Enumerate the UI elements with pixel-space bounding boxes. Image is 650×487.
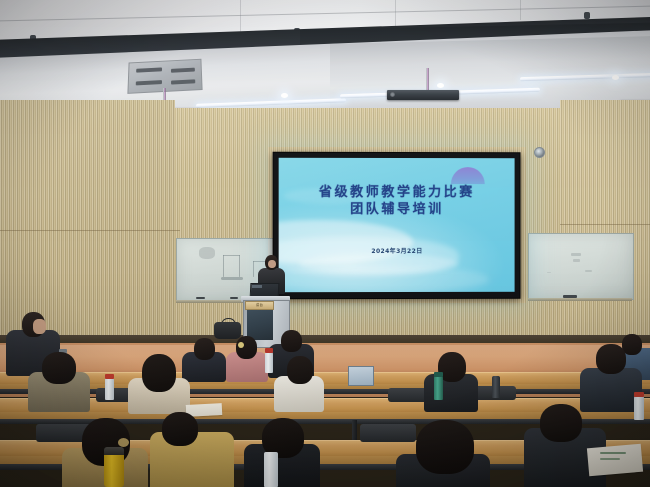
podium-plaque: 讲台: [245, 301, 274, 310]
ceiling-speaker-icon: [584, 12, 590, 19]
bottle-cap: [434, 372, 443, 377]
whiteboard-right: [528, 233, 634, 300]
ceiling-downlight-icon: [281, 93, 288, 98]
bag-icon: [214, 322, 241, 339]
ac-grille-slat: [171, 68, 195, 73]
handout-mark: [600, 452, 626, 454]
wall-sensor-icon: [534, 147, 545, 158]
whiteboard-marker-icon: [563, 295, 577, 298]
slide-wave-decoration: [279, 266, 489, 292]
bottle-cap: [265, 348, 273, 353]
whiteboard-sketch-mark: [571, 253, 581, 256]
water-bottle-icon: [492, 376, 500, 398]
attendee-head: [281, 330, 302, 352]
handout-right: [587, 444, 643, 477]
bottle-cap: [105, 374, 114, 379]
slide-title-block: 省级教师教学能力比赛 团队辅导培训: [279, 184, 515, 218]
water-bottle-icon: [634, 396, 644, 420]
attendee-head: [162, 412, 198, 446]
whiteboard-sketch-mark: [585, 270, 592, 272]
stage-floor-reflection: [0, 345, 650, 371]
attendee-head: [540, 404, 582, 442]
slide-title-line-1: 省级教师教学能力比赛: [279, 184, 515, 201]
attendee-head: [596, 344, 626, 374]
projector-lens-icon: [390, 92, 395, 97]
water-bottle-icon: [105, 378, 114, 400]
whiteboard-sketch-mark: [253, 261, 254, 277]
ceiling-panel-seam: [240, 0, 241, 34]
projection-screen: 省级教师教学能力比赛 团队辅导培训 2024年3月22日: [273, 152, 521, 299]
attendee-head: [416, 420, 474, 474]
slide-date: 2024年3月22日: [279, 246, 515, 255]
attendee-body: [580, 368, 642, 412]
slide-canvas: 省级教师教学能力比赛 团队辅导培训 2024年3月22日: [279, 158, 515, 292]
attendee-head: [194, 338, 215, 360]
lecture-hall-photo: 省级教师教学能力比赛 团队辅导培训 2024年3月22日 讲台: [0, 0, 650, 487]
attendee-head: [142, 354, 176, 392]
whiteboard-marker-icon: [196, 297, 205, 299]
presenter-face: [268, 260, 276, 268]
whiteboard-sketch-mark: [547, 272, 551, 273]
chair-back: [360, 424, 416, 442]
whiteboard-marker-icon: [230, 297, 238, 299]
attendee-face: [33, 319, 46, 334]
ac-grille-slat: [136, 67, 162, 72]
whiteboard-sketch-mark: [573, 259, 580, 262]
projector-icon: [387, 90, 459, 100]
laptop-icon: [348, 366, 374, 386]
wall-horizontal-seam: [0, 230, 180, 231]
whiteboard-sketch-mark: [223, 255, 224, 277]
water-bottle-icon: [264, 452, 278, 487]
whiteboard-sketch-mark: [199, 247, 215, 259]
podium-front-panel: [247, 306, 273, 340]
whiteboard-sketch-mark: [221, 277, 243, 280]
whiteboard-sketch-mark: [223, 255, 240, 256]
water-bottle-icon: [434, 376, 443, 400]
whiteboard-marker-tray: [528, 298, 632, 301]
podium-plaque-text: 讲台: [246, 302, 273, 309]
projector-mount-pole: [426, 68, 429, 92]
laptop-screen-glint: [252, 285, 262, 288]
ac-grille-slat: [136, 80, 162, 85]
attendee-head: [287, 356, 313, 384]
thermos-cap: [104, 447, 124, 455]
thermos-yellow: [104, 452, 124, 487]
ceiling-panel-seam: [520, 0, 521, 20]
ac-grille-slat: [171, 79, 195, 84]
slide-title-line-2: 团队辅导培训: [279, 201, 515, 218]
attendee-head: [42, 352, 76, 384]
slide-arc-decoration: [451, 167, 485, 184]
bottle-cap: [634, 392, 644, 397]
ceiling-downlight-icon: [612, 75, 619, 80]
handout-mark: [600, 458, 620, 460]
attendee-hair-tie: [118, 438, 129, 447]
attendee-hair-tie: [238, 342, 244, 348]
wall-horizontal-seam: [560, 224, 650, 225]
whiteboard-sketch-mark: [239, 255, 240, 277]
ceiling-downlight-icon: [437, 83, 444, 88]
ceiling-panel-seam: [395, 0, 396, 26]
water-bottle-icon: [265, 352, 273, 373]
